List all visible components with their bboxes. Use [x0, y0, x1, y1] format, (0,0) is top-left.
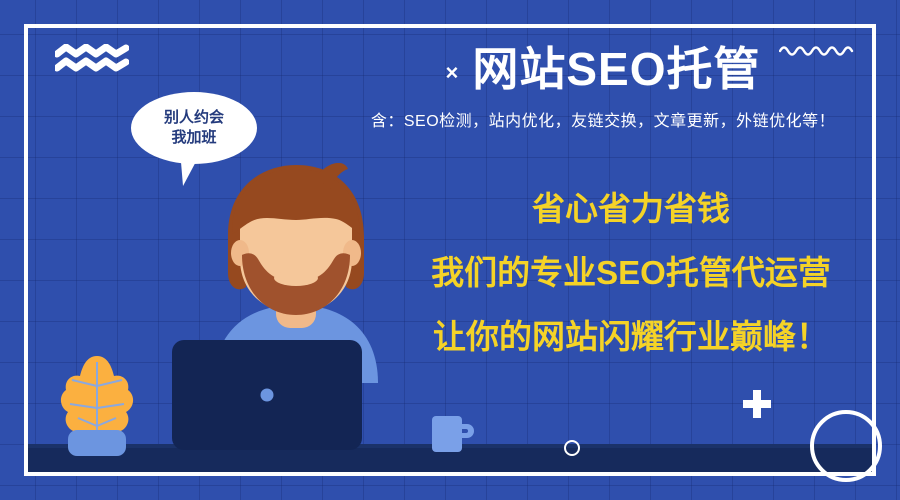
slogan-line-3: 让你的网站闪耀行业巅峰！ [382, 320, 880, 353]
corner-circle-icon [810, 410, 882, 482]
speech-bubble-line-1: 别人约会 [164, 108, 224, 128]
coffee-mug [430, 410, 478, 458]
circle-outline-icon [564, 440, 580, 456]
plus-mark-icon [743, 390, 771, 418]
slogan-line-1: 省心省力省钱 [382, 192, 880, 225]
seo-hosting-banner: × 网站SEO托管 含：SEO检测，站内优化，友链交换，文章更新，外链优化等！ … [0, 0, 900, 500]
speech-bubble: 别人约会 我加班 [131, 92, 257, 164]
page-title: 网站SEO托管 [472, 44, 760, 95]
speech-bubble-line-2: 我加班 [171, 128, 216, 148]
potted-plant [52, 352, 142, 462]
bullet-mark-icon: × [445, 62, 458, 84]
page-subtitle: 含：SEO检测，站内优化，友链交换，文章更新，外链优化等！ [330, 107, 876, 131]
thin-squiggle-wave-icon [779, 42, 855, 56]
slogan-line-2: 我们的专业SEO托管代运营 [382, 256, 880, 289]
slogan-list: 省心省力省钱 我们的专业SEO托管代运营 让你的网站闪耀行业巅峰！ [382, 192, 880, 353]
laptop-logo-dot [261, 389, 274, 402]
laptop [172, 340, 362, 450]
title-block: × 网站SEO托管 含：SEO检测，站内优化，友链交换，文章更新，外链优化等！ [330, 44, 876, 131]
